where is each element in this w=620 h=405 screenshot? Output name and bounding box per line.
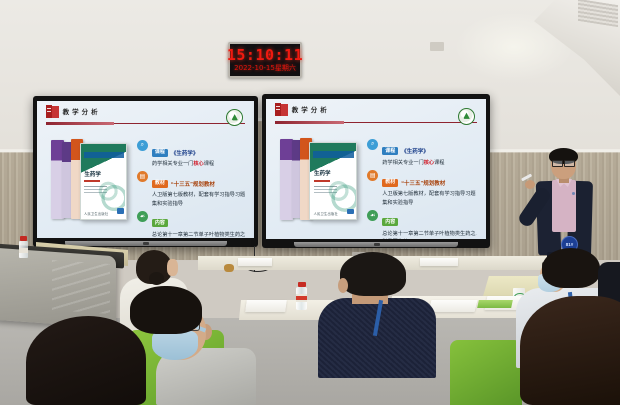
slide-title-rule xyxy=(46,123,246,124)
bullet-tagline: 《生药学》 xyxy=(401,147,429,155)
bullet-chip: 课程 xyxy=(382,147,398,155)
slide-title: 教学分析 xyxy=(292,104,330,114)
lecturer-hand xyxy=(525,180,535,189)
bullet-description: 人卫版第七版教材，配套有学习指导习题集和实验指导 xyxy=(152,191,246,208)
bullet-description: 药学相关专业一门核心课程 xyxy=(152,160,246,169)
bullet-description: 总论第十一章第二节单子叶植物类生药之科重要生药 xyxy=(152,231,246,238)
air-vent xyxy=(578,0,618,27)
wall-outlet-plate xyxy=(430,42,444,51)
snack-item xyxy=(224,264,234,272)
magnifier-icon: ⌕ xyxy=(367,139,378,150)
bullet-row: ☙ 内容 总论第十一章第二节单子叶植物类生药之科重要生药 xyxy=(137,211,246,238)
book-icon xyxy=(46,105,59,118)
slide-title-wrap: 教学分析 xyxy=(275,103,330,116)
slide-header: 教学分析 xyxy=(37,101,254,127)
book-cover-publisher: 人民卫生出版社 xyxy=(314,211,338,216)
bullet-chip: 教材 xyxy=(382,179,398,187)
slide-title: 教学分析 xyxy=(63,106,101,116)
bullet-row: ⌕ 课程 《生药学》 药学相关专业一门核心课程 xyxy=(367,139,477,168)
bullet-tagline: 《生药学》 xyxy=(171,149,199,157)
lapel-pin-icon xyxy=(572,192,575,195)
slide-body: 生药学 人民卫生出版社 ⌕ xyxy=(266,126,486,239)
bullet-chip: 课程 xyxy=(152,149,168,157)
leaf-icon: ☙ xyxy=(367,210,378,221)
water-bottle xyxy=(19,236,28,258)
slide-title-wrap: 教学分析 xyxy=(46,105,101,118)
book-icon xyxy=(275,103,288,116)
university-emblem-icon xyxy=(226,109,243,126)
textbook-photo: 生药学 人民卫生出版社 xyxy=(37,127,137,238)
left-panel-ir-sensor xyxy=(143,242,149,245)
slide-body: 生药学 人民卫生出版社 ⌕ xyxy=(37,127,254,238)
slide-left: 教学分析 生药学 xyxy=(37,101,254,238)
book-cover-publisher: 人民卫生出版社 xyxy=(84,211,108,216)
led-wall-clock: 15:10:11 2022-10-15星期六 xyxy=(228,42,302,78)
left-display-panel[interactable]: 教学分析 生药学 xyxy=(33,96,258,247)
slide-header: 教学分析 xyxy=(266,99,486,126)
bullet-chip: 教材 xyxy=(152,180,168,188)
bullet-tagline: “十三五”规划教材 xyxy=(171,180,215,188)
bullet-chip: 内容 xyxy=(382,218,398,226)
classroom-photo-scene: 15:10:11 2022-10-15星期六 教学分析 xyxy=(0,0,620,405)
clock-time: 15:10:11 xyxy=(227,48,303,63)
slide-page-number: - 3 - xyxy=(470,231,477,236)
student-foreground-left xyxy=(26,316,146,405)
leaf-icon: ☙ xyxy=(137,211,148,222)
glasses-icon xyxy=(552,160,575,165)
judge-navy-shirt xyxy=(318,252,440,378)
bullet-chip: 内容 xyxy=(152,219,168,227)
bullet-row: ⌕ 课程 《生药学》 药学相关专业一门核心课程 xyxy=(137,140,246,169)
bullet-row: ☙ 内容 总论第十一章第二节单子叶植物类生药之科重要生药 xyxy=(367,210,477,239)
bullet-row: ▤ 教材 “十三五”规划教材 人卫版第七版教材，配套有学习指导习题集和实验指导 xyxy=(367,170,477,207)
right-screen-surface[interactable]: 教学分析 生药学 xyxy=(266,99,486,239)
magnifier-icon: ⌕ xyxy=(137,140,148,151)
bullet-tagline: “十三五”规划教材 xyxy=(401,179,445,187)
textbook-icon: ▤ xyxy=(137,171,148,182)
bullet-row: ▤ 教材 “十三五”规划教材 人卫版第七版教材，配套有学习指导习题集和实验指导 xyxy=(137,171,246,208)
book-front-cover: 生药学 人民卫生出版社 xyxy=(80,143,128,219)
slide-page-number: - 3 - xyxy=(238,230,245,235)
bullet-description: 人卫版第七版教材，配套有学习指导习题集和实验指导 xyxy=(382,190,477,207)
bullet-description: 药学相关专业一门核心课程 xyxy=(382,159,477,168)
evaluation-sheet xyxy=(238,258,272,266)
slide-title-rule xyxy=(275,122,477,123)
slide-right: 教学分析 生药学 xyxy=(266,99,486,239)
right-panel-ir-sensor xyxy=(374,243,380,246)
right-display-panel[interactable]: 教学分析 生药学 xyxy=(262,94,490,248)
textbook-icon: ▤ xyxy=(367,170,378,181)
bullet-description: 总论第十一章第二节单子叶植物类生药之科重要生药 xyxy=(382,230,477,239)
slide-bullets: ⌕ 课程 《生药学》 药学相关专业一门核心课程 ▤ xyxy=(137,127,254,238)
book-front-cover: 生药学 人民卫生出版社 xyxy=(309,142,357,220)
water-bottle xyxy=(296,282,307,310)
textbook-photo: 生药学 人民卫生出版社 xyxy=(266,126,367,239)
badge-number: 81# xyxy=(566,242,574,247)
left-screen-surface[interactable]: 教学分析 生药学 xyxy=(37,101,254,238)
lecturer-shirt xyxy=(552,180,576,232)
student-foreground-right xyxy=(520,296,620,405)
console-vent-ridges xyxy=(52,260,110,314)
slide-bullets: ⌕ 课程 《生药学》 药学相关专业一门核心课程 ▤ xyxy=(367,126,486,239)
clock-date: 2022-10-15星期六 xyxy=(234,64,296,73)
university-emblem-icon xyxy=(458,108,475,125)
